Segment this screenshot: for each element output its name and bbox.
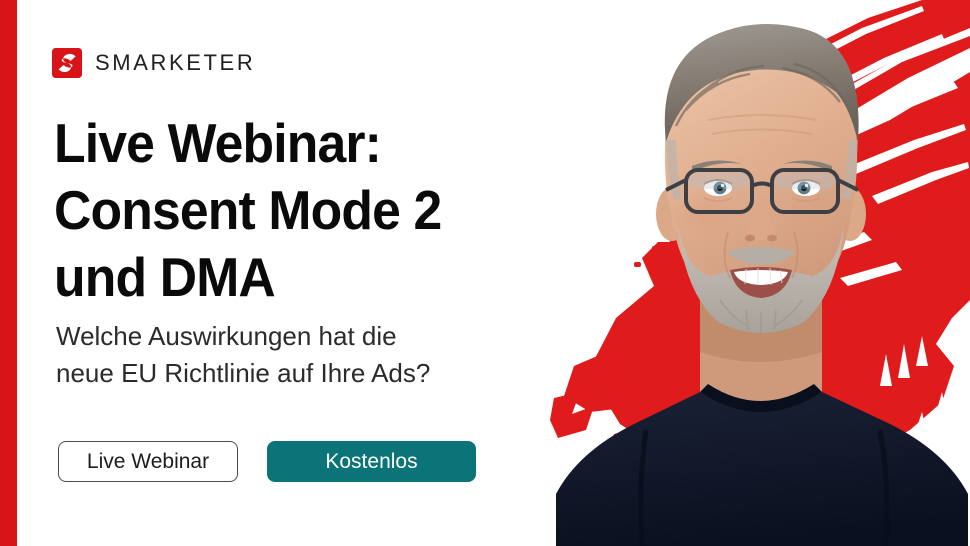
webinar-promo-banner: SMARKETER Live Webinar: Consent Mode 2 u…	[0, 0, 970, 546]
brand-logo[interactable]: SMARKETER	[52, 48, 255, 78]
portrait	[556, 24, 968, 546]
live-webinar-button[interactable]: Live Webinar	[58, 441, 238, 482]
red-brush-splash	[550, 0, 970, 476]
page-title: Live Webinar: Consent Mode 2 und DMA	[54, 110, 543, 311]
brush-white-streaks	[658, 6, 969, 438]
page-subtitle: Welche Auswirkungen hat die neue EU Rich…	[56, 318, 556, 392]
brand-wordmark: SMARKETER	[95, 50, 255, 76]
artwork-group	[550, 0, 970, 546]
kostenlos-button[interactable]: Kostenlos	[267, 441, 476, 482]
glasses	[666, 170, 858, 212]
face	[665, 28, 857, 330]
hair	[665, 24, 859, 142]
button-row: Live Webinar Kostenlos	[58, 441, 476, 482]
beard	[678, 224, 844, 333]
left-accent-bar	[0, 0, 17, 546]
smarketer-s-mark-icon	[52, 48, 82, 78]
hero-artwork	[550, 0, 970, 546]
sweater	[556, 392, 968, 546]
